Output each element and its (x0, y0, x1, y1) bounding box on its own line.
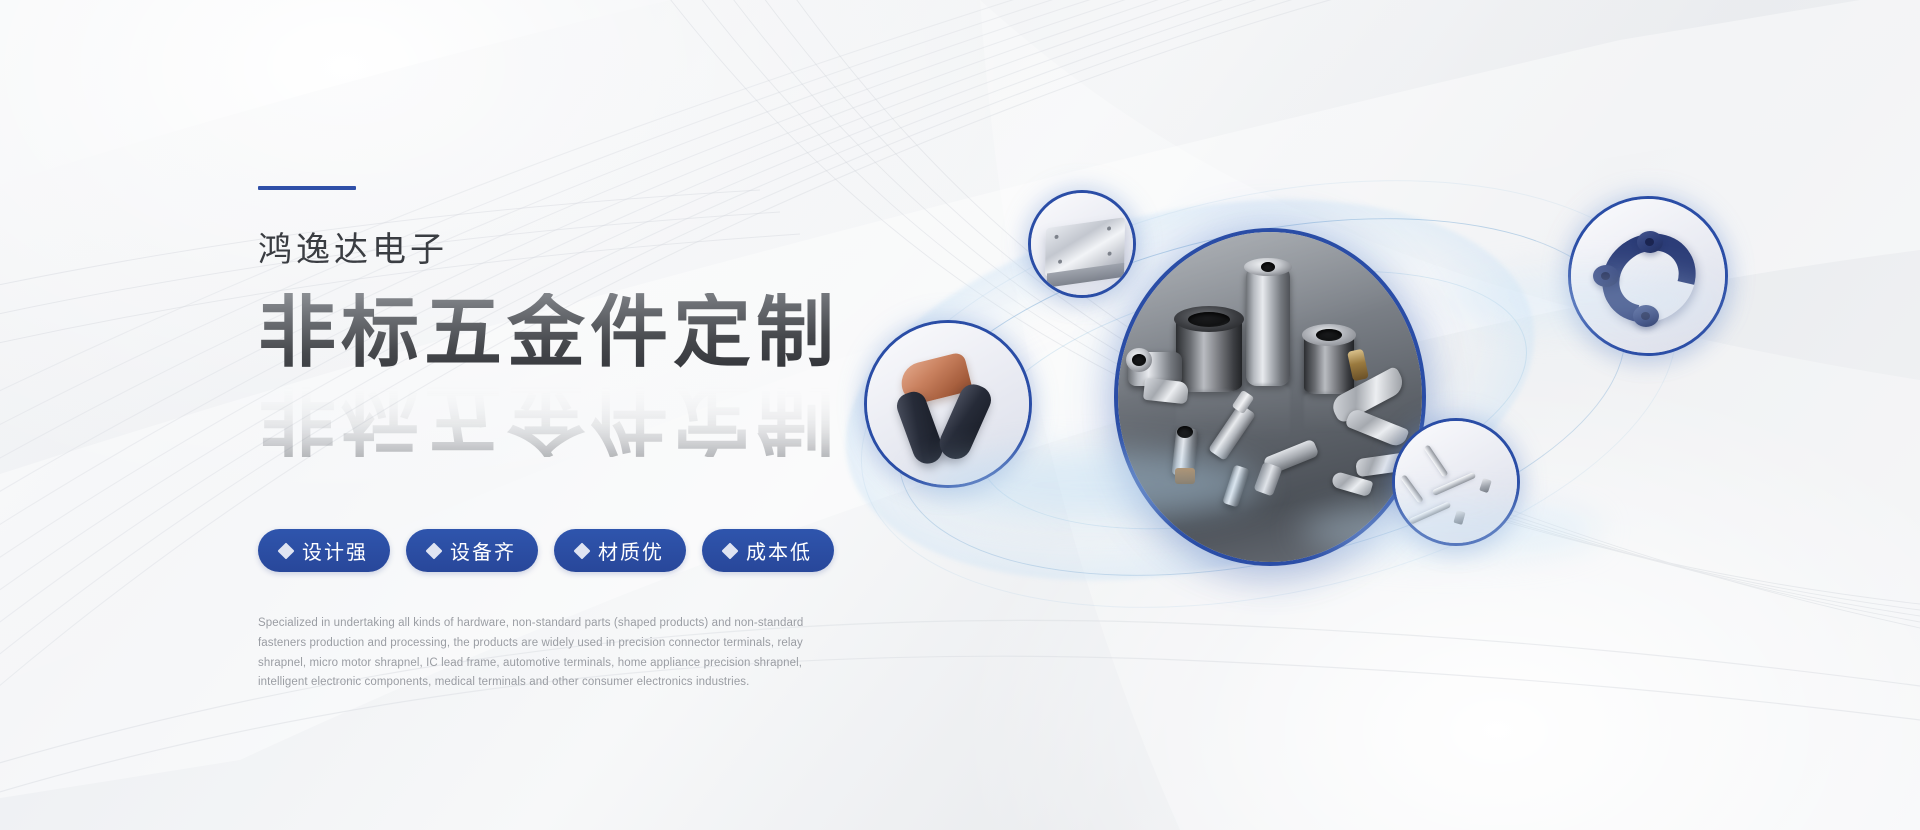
part-connector-bore (1132, 354, 1146, 366)
feature-pill-list: 设计强 设备齐 材质优 成本低 (258, 529, 898, 572)
part-connector-flange (1143, 378, 1189, 404)
page-title: 非标五金件定制 (258, 293, 898, 371)
part-cylinder-bore (1261, 262, 1275, 272)
diamond-bullet-icon (574, 542, 591, 559)
feature-pill-label: 设备齐 (450, 536, 516, 565)
part-steel-cylinder (1246, 266, 1290, 386)
feature-pill-design[interactable]: 设计强 (258, 529, 390, 572)
accent-bar (258, 186, 356, 190)
part-ferrule-bore (1177, 426, 1193, 438)
pin-segment (1432, 472, 1476, 496)
enclosure-body (1045, 217, 1125, 277)
brand-name: 鸿逸达电子 (258, 222, 898, 271)
clamp-handle-left (893, 388, 947, 468)
light-streak (1440, 270, 1720, 330)
feature-pill-cost[interactable]: 成本低 (702, 529, 834, 572)
light-streak (1300, 502, 1600, 558)
headline-wrapper: 非标五金件定制 非标五金件定制 (258, 293, 898, 443)
light-streak (920, 450, 1260, 520)
part-socket-bore (1188, 312, 1230, 327)
pin-segment (1423, 444, 1448, 477)
diamond-bullet-icon (278, 542, 295, 559)
pin-segment (1400, 474, 1424, 503)
text-column: 鸿逸达电子 非标五金件定制 非标五金件定制 设计强 设备齐 材质优 (258, 186, 898, 693)
feature-pill-label: 材质优 (598, 536, 664, 565)
headline-reflection: 非标五金件定制 (258, 379, 839, 457)
banner-content: 鸿逸达电子 非标五金件定制 非标五金件定制 设计强 设备齐 材质优 (0, 0, 1920, 830)
feature-pill-material[interactable]: 材质优 (554, 529, 686, 572)
product-showcase (880, 150, 1890, 670)
description-paragraph: Specialized in undertaking all kinds of … (258, 614, 820, 693)
hero-banner: 鸿逸达电子 非标五金件定制 非标五金件定制 设计强 设备齐 材质优 (0, 0, 1920, 830)
snap-ring-lug (1637, 231, 1663, 253)
feature-pill-label: 成本低 (746, 536, 812, 565)
diamond-bullet-icon (426, 542, 443, 559)
feature-pill-equipment[interactable]: 设备齐 (406, 529, 538, 572)
pin-tip (1479, 478, 1492, 493)
part-socket-right-bore (1316, 329, 1342, 341)
diamond-bullet-icon (722, 542, 739, 559)
feature-pill-label: 设计强 (302, 536, 368, 565)
